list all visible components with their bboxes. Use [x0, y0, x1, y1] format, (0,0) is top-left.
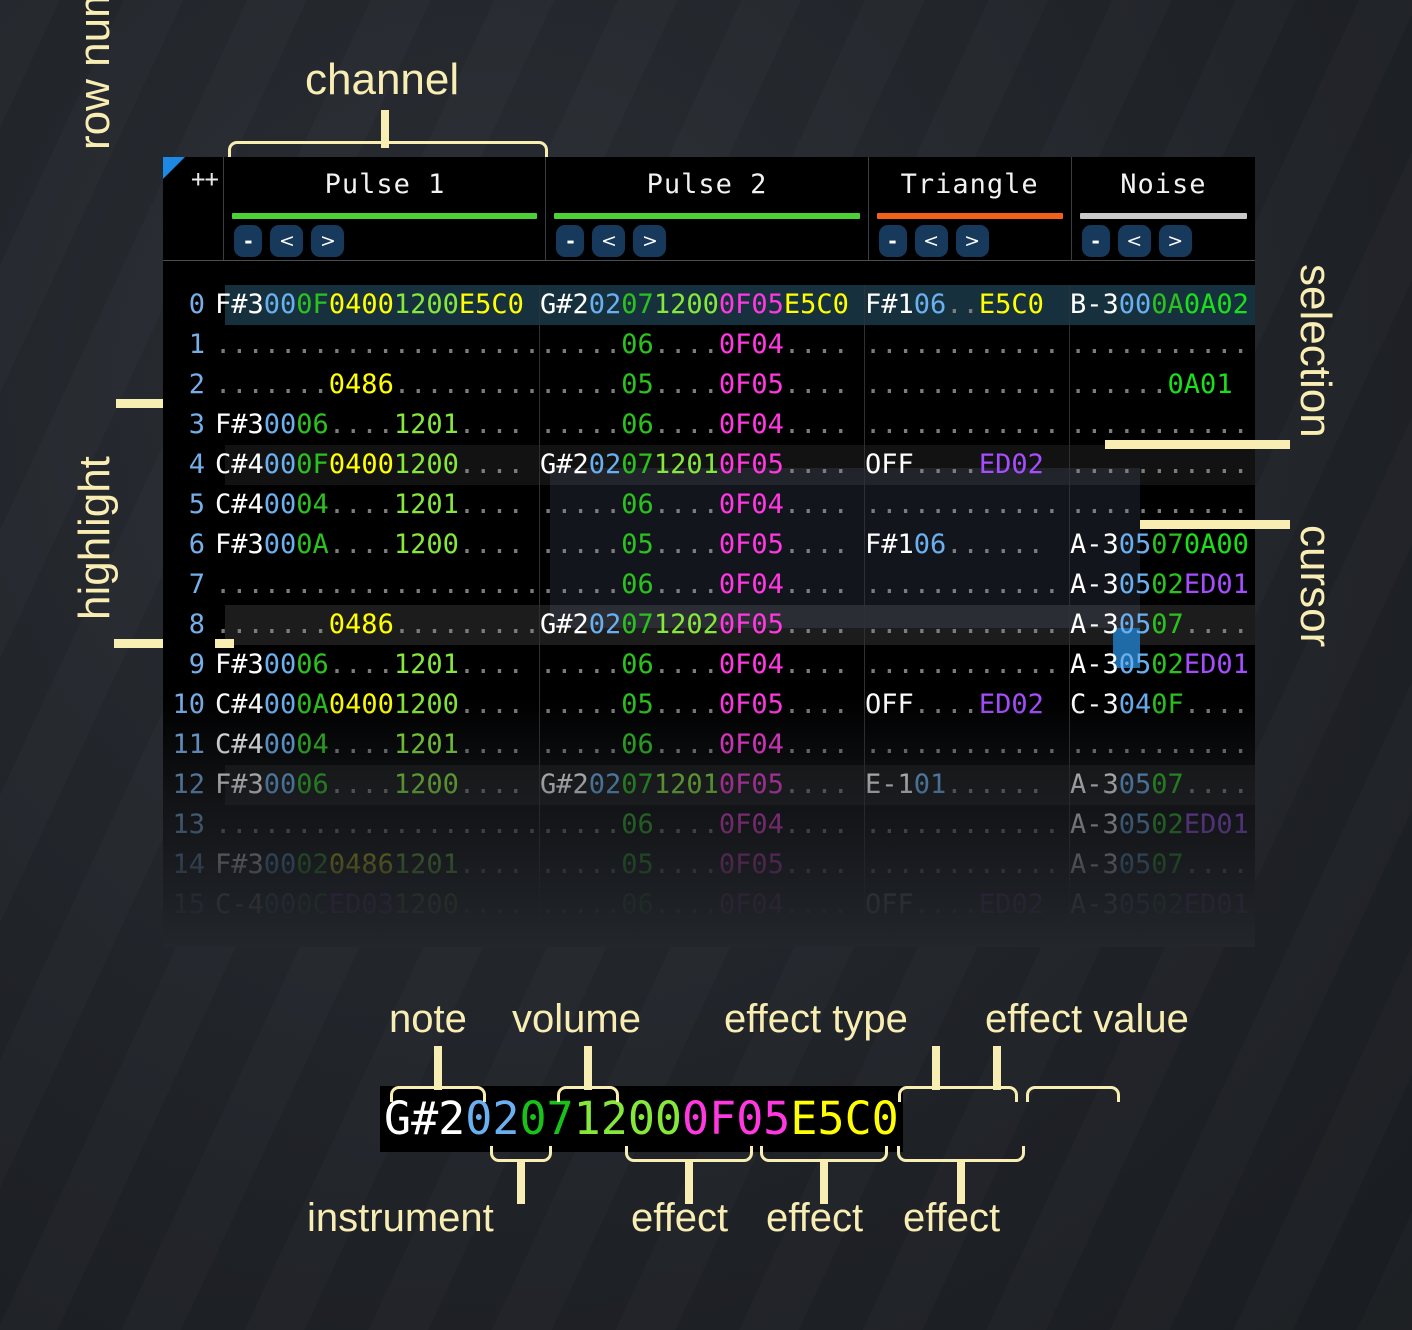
legend-bracket-effect-value — [1026, 1086, 1120, 1102]
pattern-token: .... — [459, 729, 524, 760]
pattern-row[interactable]: 8.......0486.........G#2020712020F05....… — [163, 605, 1255, 645]
pattern-token: .... — [784, 649, 849, 680]
row-cells[interactable]: C-4000CED031200.........06....0F04....OF… — [215, 885, 1255, 925]
pattern-token: 06 — [621, 889, 654, 920]
pattern-cell[interactable]: A-30502ED01 — [1070, 885, 1255, 925]
channel-name: Triangle — [869, 157, 1071, 200]
annotation-channel-label: channel — [305, 55, 459, 105]
pattern-token: 02 — [296, 849, 329, 880]
pattern-cell[interactable]: G#2020712010F05.... — [540, 765, 865, 805]
pattern-cell[interactable]: .................... — [215, 325, 540, 365]
pattern-token: ........... — [1070, 489, 1249, 520]
pattern-row[interactable]: 11C#40004....1201.........06....0F04....… — [163, 725, 1255, 765]
pattern-token: 04 — [296, 489, 329, 520]
pattern-row[interactable]: 13.........................06....0F04...… — [163, 805, 1255, 845]
pattern-token: ....... — [215, 609, 329, 640]
channel-next-button[interactable]: > — [956, 225, 989, 257]
pattern-token: A-3 — [1070, 889, 1119, 920]
pattern-cell[interactable]: A-305070A00 — [1070, 525, 1255, 565]
channel-next-button[interactable]: > — [1159, 225, 1192, 257]
pattern-cell[interactable]: .....06....0F04.... — [540, 325, 865, 365]
pattern-token: 07 — [621, 449, 654, 480]
pattern-token: 1201 — [654, 769, 719, 800]
pattern-cell[interactable]: F#106...... — [865, 525, 1070, 565]
pattern-token: .... — [459, 449, 524, 480]
pattern-token: 0486 — [329, 609, 394, 640]
pattern-token: 0400 — [329, 449, 394, 480]
pattern-token: 0F05 — [719, 689, 784, 720]
pattern-token: .... — [914, 689, 979, 720]
row-cells[interactable]: C#4000F04001200....G#2020712010F05....OF… — [215, 445, 1255, 485]
pattern-token: ............ — [865, 809, 1060, 840]
pattern-token: .... — [1184, 689, 1249, 720]
pattern-token: ............ — [865, 849, 1060, 880]
pattern-token: 05 — [1119, 609, 1152, 640]
pattern-cell[interactable]: .....06....0F04.... — [540, 405, 865, 445]
pattern-token: .... — [329, 769, 394, 800]
row-number: 14 — [163, 845, 215, 885]
pattern-token: 05 — [621, 529, 654, 560]
pattern-cell[interactable]: F#30006....1201.... — [215, 405, 540, 445]
row-cells[interactable]: .......0486.........G#2020712020F05.....… — [215, 605, 1255, 645]
pattern-token: 00 — [264, 529, 297, 560]
pattern-token: .... — [784, 769, 849, 800]
pattern-token: ..... — [540, 369, 621, 400]
channel-header-noise[interactable]: Noise - < > — [1072, 157, 1255, 260]
pattern-row[interactable]: 10C#4000A04001200.........05....0F05....… — [163, 685, 1255, 725]
row-cells[interactable]: C#4000A04001200.........05....0F05....OF… — [215, 685, 1255, 725]
pattern-token: .... — [459, 409, 524, 440]
pattern-token: 0C — [296, 889, 329, 920]
pattern-token: .... — [329, 529, 394, 560]
pattern-token: 06 — [621, 409, 654, 440]
pattern-token: ........... — [1070, 449, 1249, 480]
pattern-editor[interactable]: ++ Pulse 1 - < > Pulse 2 - < > Triangle — [163, 157, 1255, 947]
row-number: 1 — [163, 325, 215, 365]
pattern-token: C#4 — [215, 489, 264, 520]
channel-header-pulse-2[interactable]: Pulse 2 - < > — [546, 157, 868, 260]
pattern-token: 06 — [621, 809, 654, 840]
legend-label-effect-type: effect type — [724, 997, 908, 1042]
pattern-cell[interactable]: OFF....ED02 — [865, 685, 1070, 725]
pattern-cell[interactable]: .................... — [215, 565, 540, 605]
pattern-row[interactable]: 2.......0486..............05....0F05....… — [163, 365, 1255, 405]
pattern-token: .... — [459, 849, 524, 880]
pattern-token: .... — [654, 729, 719, 760]
pattern-token: ..... — [540, 849, 621, 880]
pattern-token: F#1 — [865, 289, 914, 320]
pattern-token: ............ — [865, 369, 1060, 400]
row-cells[interactable]: .........................06....0F04.....… — [215, 565, 1255, 605]
pattern-token: ........... — [1070, 329, 1249, 360]
row-cells[interactable]: .........................06....0F04.....… — [215, 325, 1255, 365]
pattern-row[interactable]: 9F#30006....1201.........06....0F04.....… — [163, 645, 1255, 685]
pattern-token: A-3 — [1070, 649, 1119, 680]
pattern-token: 0F05 — [719, 369, 784, 400]
channel-header-row: ++ Pulse 1 - < > Pulse 2 - < > Triangle — [163, 157, 1255, 260]
pattern-cell[interactable]: .................... — [215, 805, 540, 845]
pattern-token: .... — [784, 409, 849, 440]
annotation-channel-bracket — [228, 141, 548, 157]
legend-token: 0F05 — [682, 1092, 790, 1145]
legend-label-note: note — [389, 997, 467, 1042]
pattern-token: 0486 — [329, 369, 394, 400]
legend-tick-effect-type — [932, 1046, 940, 1090]
pattern-cell[interactable]: .....06....0F04.... — [540, 725, 865, 765]
pattern-token: .................... — [215, 329, 540, 360]
pattern-cell[interactable]: F#30006....1201.... — [215, 645, 540, 685]
channel-header-pulse-1[interactable]: Pulse 1 - < > — [224, 157, 546, 260]
pattern-token: 05 — [1119, 849, 1152, 880]
pattern-token: 02 — [1151, 889, 1184, 920]
pattern-token: .... — [654, 569, 719, 600]
pattern-token: 1200 — [394, 769, 459, 800]
pattern-token: 0A01 — [1168, 369, 1233, 400]
pattern-cell[interactable]: ............ — [865, 565, 1070, 605]
pattern-row[interactable]: 3F#30006....1201.........06....0F04.....… — [163, 405, 1255, 445]
pattern-token: 05 — [1119, 529, 1152, 560]
channel-name: Pulse 2 — [546, 157, 867, 200]
pattern-cell[interactable]: ............ — [865, 325, 1070, 365]
pattern-token: ......... — [394, 609, 540, 640]
pattern-token: .... — [654, 369, 719, 400]
pattern-token: ..... — [540, 689, 621, 720]
pattern-cell[interactable]: .....05....0F05.... — [540, 365, 865, 405]
pattern-token: ED03 — [329, 889, 394, 920]
pattern-cell[interactable]: .....05....0F05.... — [540, 845, 865, 885]
channel-name: Pulse 1 — [224, 157, 545, 200]
channel-header-triangle[interactable]: Triangle - < > — [869, 157, 1072, 260]
pattern-token: .... — [329, 729, 394, 760]
row-cells[interactable]: C#40004....1201.........06....0F04......… — [215, 725, 1255, 765]
pattern-cell[interactable]: ........... — [1070, 405, 1255, 445]
row-cells[interactable]: F#30006....1201.........06....0F04......… — [215, 645, 1255, 685]
pattern-cell[interactable]: .....05....0F05.... — [540, 525, 865, 565]
row-number: 15 — [163, 885, 215, 925]
pattern-token: ............ — [865, 409, 1060, 440]
channel-mute-button[interactable]: - — [879, 225, 907, 257]
legend-label-effect-value: effect value — [985, 997, 1189, 1042]
pattern-token: C#4 — [215, 729, 264, 760]
pattern-token: ED01 — [1184, 809, 1249, 840]
pattern-cell[interactable]: ........... — [1070, 485, 1255, 525]
pattern-cell[interactable]: E-101...... — [865, 765, 1070, 805]
row-number: 6 — [163, 525, 215, 565]
pattern-token: 1200 — [394, 889, 459, 920]
pattern-token: 0A00 — [1184, 529, 1249, 560]
pattern-token: C-3 — [1070, 689, 1119, 720]
pattern-token: .... — [914, 889, 979, 920]
pattern-token: ...... — [1070, 369, 1168, 400]
pattern-token: C#4 — [215, 449, 264, 480]
pattern-token: 00 — [264, 729, 297, 760]
pattern-token: ............ — [865, 729, 1060, 760]
pattern-token: 0F05 — [719, 849, 784, 880]
pattern-top-gap — [163, 261, 1255, 285]
pattern-token: .... — [459, 489, 524, 520]
pattern-cell[interactable]: F#3000F04001200E5C0 — [215, 285, 540, 325]
row-number: 5 — [163, 485, 215, 525]
pattern-row[interactable]: 5C#40004....1201.........06....0F04.....… — [163, 485, 1255, 525]
pattern-token: 1200 — [394, 289, 459, 320]
pattern-cell[interactable]: C-4000CED031200.... — [215, 885, 540, 925]
pattern-cell[interactable]: .....06....0F04.... — [540, 565, 865, 605]
pattern-cell[interactable]: .....06....0F04.... — [540, 645, 865, 685]
pattern-token: .... — [784, 889, 849, 920]
pattern-cell[interactable]: A-30507.... — [1070, 605, 1255, 645]
pattern-cell[interactable]: C#4000F04001200.... — [215, 445, 540, 485]
pattern-token: .... — [784, 329, 849, 360]
pattern-row[interactable]: 12F#30006....1200....G#2020712010F05....… — [163, 765, 1255, 805]
pattern-token: G#2 — [540, 769, 589, 800]
pattern-token: 04 — [1119, 689, 1152, 720]
pattern-token: ............ — [865, 569, 1060, 600]
pattern-token: 06 — [621, 729, 654, 760]
row-cells[interactable]: F#30006....1201.........06....0F04......… — [215, 405, 1255, 445]
pattern-cell[interactable]: ............ — [865, 485, 1070, 525]
pattern-token: 05 — [1119, 569, 1152, 600]
pattern-cell[interactable]: C#40004....1201.... — [215, 725, 540, 765]
pattern-row[interactable]: 6F#3000A....1200.........05....0F05....F… — [163, 525, 1255, 565]
row-cells[interactable]: .........................06....0F04.....… — [215, 805, 1255, 845]
pattern-cell[interactable]: A-30502ED01 — [1070, 565, 1255, 605]
row-number: 7 — [163, 565, 215, 605]
pattern-token: E5C0 — [784, 289, 849, 320]
pattern-token: .... — [654, 689, 719, 720]
pattern-token: ED01 — [1184, 569, 1249, 600]
pattern-token: .... — [784, 569, 849, 600]
pattern-cell[interactable]: ........... — [1070, 325, 1255, 365]
channel-prev-button[interactable]: < — [270, 225, 303, 257]
pattern-cell[interactable]: C#40004....1201.... — [215, 485, 540, 525]
pattern-token: 04 — [296, 729, 329, 760]
pattern-cell[interactable]: C-3040F.... — [1070, 685, 1255, 725]
row-number: 10 — [163, 685, 215, 725]
pattern-token: 02 — [1151, 809, 1184, 840]
pattern-token: 07 — [1151, 529, 1184, 560]
pattern-token: 0F05 — [719, 449, 784, 480]
pattern-cell[interactable]: A-30502ED01 — [1070, 805, 1255, 845]
pattern-token: 0F — [296, 449, 329, 480]
pattern-cell[interactable]: A-30507.... — [1070, 845, 1255, 885]
pattern-token: 0F05 — [719, 769, 784, 800]
pattern-cell[interactable]: OFF....ED02 — [865, 885, 1070, 925]
pattern-token: 00 — [1119, 289, 1152, 320]
pattern-token: 0F05 — [719, 289, 784, 320]
pattern-token: .... — [784, 849, 849, 880]
pattern-token: E5C0 — [979, 289, 1044, 320]
pattern-token: 0F04 — [719, 569, 784, 600]
pattern-token: 1201 — [394, 489, 459, 520]
pattern-token: ....... — [215, 369, 329, 400]
annotation-selection-label: selection — [1290, 264, 1340, 438]
pattern-token: 0F — [1151, 689, 1184, 720]
pattern-cell[interactable]: A-30502ED01 — [1070, 645, 1255, 685]
channel-mute-button[interactable]: - — [556, 225, 584, 257]
pattern-token: F#1 — [865, 529, 914, 560]
pattern-token: 06 — [621, 329, 654, 360]
pattern-cell[interactable]: F#106..E5C0 — [865, 285, 1070, 325]
pattern-token: G#2 — [540, 609, 589, 640]
pattern-cell[interactable]: G#2020712020F05.... — [540, 605, 865, 645]
pattern-token: 1200 — [394, 689, 459, 720]
pattern-corner-cell[interactable]: ++ — [163, 157, 224, 260]
row-cells[interactable]: F#3000204861201.........05....0F05......… — [215, 845, 1255, 885]
pattern-token: 0F04 — [719, 489, 784, 520]
pattern-token: A-3 — [1070, 769, 1119, 800]
pattern-cell[interactable]: ............ — [865, 605, 1070, 645]
pattern-token: 06 — [914, 289, 947, 320]
channel-prev-button[interactable]: < — [1118, 225, 1151, 257]
pattern-rows[interactable]: 0F#3000F04001200E5C0G#2020712000F05E5C0F… — [163, 285, 1255, 925]
row-cells[interactable]: .......0486..............05....0F05.....… — [215, 365, 1255, 405]
pattern-cell[interactable]: F#30006....1200.... — [215, 765, 540, 805]
pattern-token: 06 — [296, 769, 329, 800]
pattern-row[interactable]: 15C-4000CED031200.........06....0F04....… — [163, 885, 1255, 925]
pattern-cell[interactable]: .....06....0F04.... — [540, 805, 865, 845]
pattern-cell[interactable]: G#2020712000F05E5C0 — [540, 285, 865, 325]
pattern-token: 0F — [296, 289, 329, 320]
pattern-token: ......... — [394, 369, 540, 400]
pattern-token: 07 — [621, 769, 654, 800]
pattern-row[interactable]: 0F#3000F04001200E5C0G#2020712000F05E5C0F… — [163, 285, 1255, 325]
pattern-token: ..... — [540, 489, 621, 520]
row-cells[interactable]: C#40004....1201.........06....0F04......… — [215, 485, 1255, 525]
pattern-cell[interactable]: .....06....0F04.... — [540, 885, 865, 925]
pattern-token: A-3 — [1070, 609, 1119, 640]
legend-label-instrument: instrument — [307, 1196, 494, 1241]
legend-label-effect-a: effect — [631, 1196, 728, 1241]
channel-mute-button[interactable]: - — [234, 225, 262, 257]
pattern-token: 00 — [264, 489, 297, 520]
pattern-row[interactable]: 4C#4000F04001200....G#2020712010F05....O… — [163, 445, 1255, 485]
row-cells[interactable]: F#3000A....1200.........05....0F05....F#… — [215, 525, 1255, 565]
pattern-token: 0F05 — [719, 529, 784, 560]
pattern-cell[interactable]: .......0486......... — [215, 365, 540, 405]
legend-tick-instrument — [517, 1160, 525, 1204]
pattern-token: ..... — [540, 649, 621, 680]
row-cells[interactable]: F#30006....1200....G#2020712010F05....E-… — [215, 765, 1255, 805]
pattern-token: 0F04 — [719, 649, 784, 680]
pattern-token: .... — [654, 889, 719, 920]
pattern-token: .... — [1184, 849, 1249, 880]
pattern-row[interactable]: 1.........................06....0F04....… — [163, 325, 1255, 365]
pattern-token: 00 — [264, 889, 297, 920]
pattern-token: 07 — [1151, 849, 1184, 880]
pattern-token: .... — [1184, 769, 1249, 800]
pattern-token: .... — [784, 489, 849, 520]
pattern-cell[interactable]: OFF....ED02 — [865, 445, 1070, 485]
pattern-token: .... — [459, 649, 524, 680]
pattern-cell[interactable]: ............ — [865, 805, 1070, 845]
pattern-cell[interactable]: ............ — [865, 405, 1070, 445]
legend-tick-volume — [584, 1046, 592, 1090]
pattern-token: 02 — [589, 449, 622, 480]
pattern-cell[interactable]: A-30507.... — [1070, 765, 1255, 805]
pattern-token: 1200 — [654, 289, 719, 320]
pattern-cell[interactable]: .....05....0F05.... — [540, 685, 865, 725]
pattern-cell[interactable]: ........... — [1070, 725, 1255, 765]
pattern-cell[interactable]: ............ — [865, 645, 1070, 685]
channel-prev-button[interactable]: < — [592, 225, 625, 257]
legend-token: E5C0 — [790, 1092, 898, 1145]
channel-name: Noise — [1072, 157, 1255, 200]
pattern-cell[interactable]: F#3000A....1200.... — [215, 525, 540, 565]
pattern-token: 00 — [264, 689, 297, 720]
channel-next-button[interactable]: > — [633, 225, 666, 257]
channel-next-button[interactable]: > — [311, 225, 344, 257]
pattern-token: 05 — [1119, 889, 1152, 920]
pattern-token: F#3 — [215, 409, 264, 440]
pattern-token: 05 — [621, 689, 654, 720]
pattern-token: .... — [654, 529, 719, 560]
pattern-token: 06 — [621, 649, 654, 680]
row-number: 11 — [163, 725, 215, 765]
pattern-cell[interactable]: ........... — [1070, 445, 1255, 485]
pattern-cell[interactable]: B-3000A0A02 — [1070, 285, 1255, 325]
pattern-token: 0F04 — [719, 329, 784, 360]
pattern-grid[interactable]: 0F#3000F04001200E5C0G#2020712000F05E5C0F… — [163, 285, 1255, 925]
pattern-row[interactable]: 7.........................06....0F04....… — [163, 565, 1255, 605]
channel-activity-bar — [232, 213, 537, 219]
pattern-cell[interactable]: .....06....0F04.... — [540, 485, 865, 525]
pattern-token: A-3 — [1070, 809, 1119, 840]
pattern-row[interactable]: 14F#3000204861201.........05....0F05....… — [163, 845, 1255, 885]
pattern-token: .... — [654, 409, 719, 440]
pattern-token: ............ — [865, 609, 1060, 640]
pattern-token: 05 — [1119, 649, 1152, 680]
pattern-token: .... — [784, 449, 849, 480]
pattern-token: 05 — [1119, 809, 1152, 840]
pattern-token: 06 — [296, 649, 329, 680]
row-number: 2 — [163, 365, 215, 405]
pattern-token: .... — [784, 609, 849, 640]
pattern-token: 00 — [264, 289, 297, 320]
annotation-highlight-label: highlight — [70, 456, 120, 620]
pattern-token: F#3 — [215, 649, 264, 680]
pattern-token: 06 — [621, 489, 654, 520]
pattern-cell[interactable]: G#2020712010F05.... — [540, 445, 865, 485]
pattern-cell[interactable]: F#3000204861201.... — [215, 845, 540, 885]
pattern-cell[interactable]: ............ — [865, 365, 1070, 405]
pattern-token: 0F04 — [719, 409, 784, 440]
row-number: 12 — [163, 765, 215, 805]
pattern-token: .... — [329, 409, 394, 440]
pattern-token: E5C0 — [459, 289, 524, 320]
pattern-token: .... — [459, 769, 524, 800]
pattern-token: ED02 — [979, 449, 1044, 480]
legend-label-volume: volume — [512, 997, 641, 1042]
pattern-token: G#2 — [540, 289, 589, 320]
pattern-token: ..... — [540, 409, 621, 440]
pattern-token: 0F04 — [719, 809, 784, 840]
channel-prev-button[interactable]: < — [915, 225, 948, 257]
pattern-token: 02 — [1151, 569, 1184, 600]
pattern-token: .. — [946, 289, 979, 320]
pattern-token: .... — [784, 729, 849, 760]
pattern-cell[interactable]: ............ — [865, 725, 1070, 765]
pattern-cell[interactable]: .......0486......... — [215, 605, 540, 645]
pattern-token: 0486 — [329, 849, 394, 880]
pattern-cell[interactable]: ......0A01 — [1070, 365, 1255, 405]
pattern-cell[interactable]: ............ — [865, 845, 1070, 885]
row-cells[interactable]: F#3000F04001200E5C0G#2020712000F05E5C0F#… — [215, 285, 1255, 325]
pattern-token: 1202 — [654, 609, 719, 640]
channel-mute-button[interactable]: - — [1082, 225, 1110, 257]
pattern-cell[interactable]: C#4000A04001200.... — [215, 685, 540, 725]
pattern-token: .... — [459, 529, 524, 560]
pattern-token: ............ — [865, 329, 1060, 360]
